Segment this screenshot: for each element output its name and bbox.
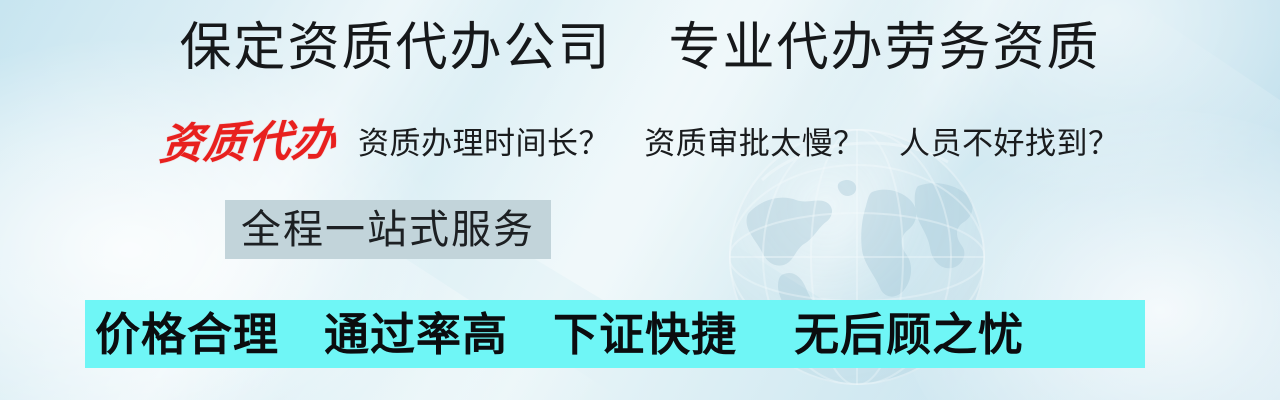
question-list: 资质办理时间长？ 资质审批太慢？ 人员不好找到？ (358, 128, 1120, 159)
title-part-2: 专业代办劳务资质 (668, 19, 1100, 77)
service-highlight-band: 全程一站式服务 (225, 200, 551, 259)
benefit-1: 价格合理 (95, 309, 279, 360)
brush-stamp-text: 资质代办 (158, 119, 339, 166)
benefit-2: 通过率高 (324, 309, 508, 360)
banner-content: 保定资质代办公司 专业代办劳务资质 资质代办 资质办理时间长？ 资质审批太慢？ … (0, 0, 1280, 400)
benefit-3: 下证快捷 (553, 309, 737, 360)
benefits-list: 价格合理 通过率高 下证快捷 无后顾之忧 (95, 312, 1024, 357)
benefit-4: 无后顾之忧 (794, 309, 1024, 360)
question-2: 资质审批太慢？ (644, 126, 865, 161)
page-title: 保定资质代办公司 专业代办劳务资质 (0, 16, 1280, 80)
benefits-band: 价格合理 通过率高 下证快捷 无后顾之忧 (85, 300, 1145, 368)
title-part-1: 保定资质代办公司 (180, 19, 612, 77)
question-3: 人员不好找到？ (899, 126, 1120, 161)
service-highlight-text: 全程一站式服务 (241, 210, 535, 250)
promo-banner: 保定资质代办公司 专业代办劳务资质 资质代办 资质办理时间长？ 资质审批太慢？ … (0, 0, 1280, 400)
question-1: 资质办理时间长？ (358, 126, 610, 161)
subheadline-row: 资质代办 资质办理时间长？ 资质审批太慢？ 人员不好找到？ (0, 112, 1280, 174)
